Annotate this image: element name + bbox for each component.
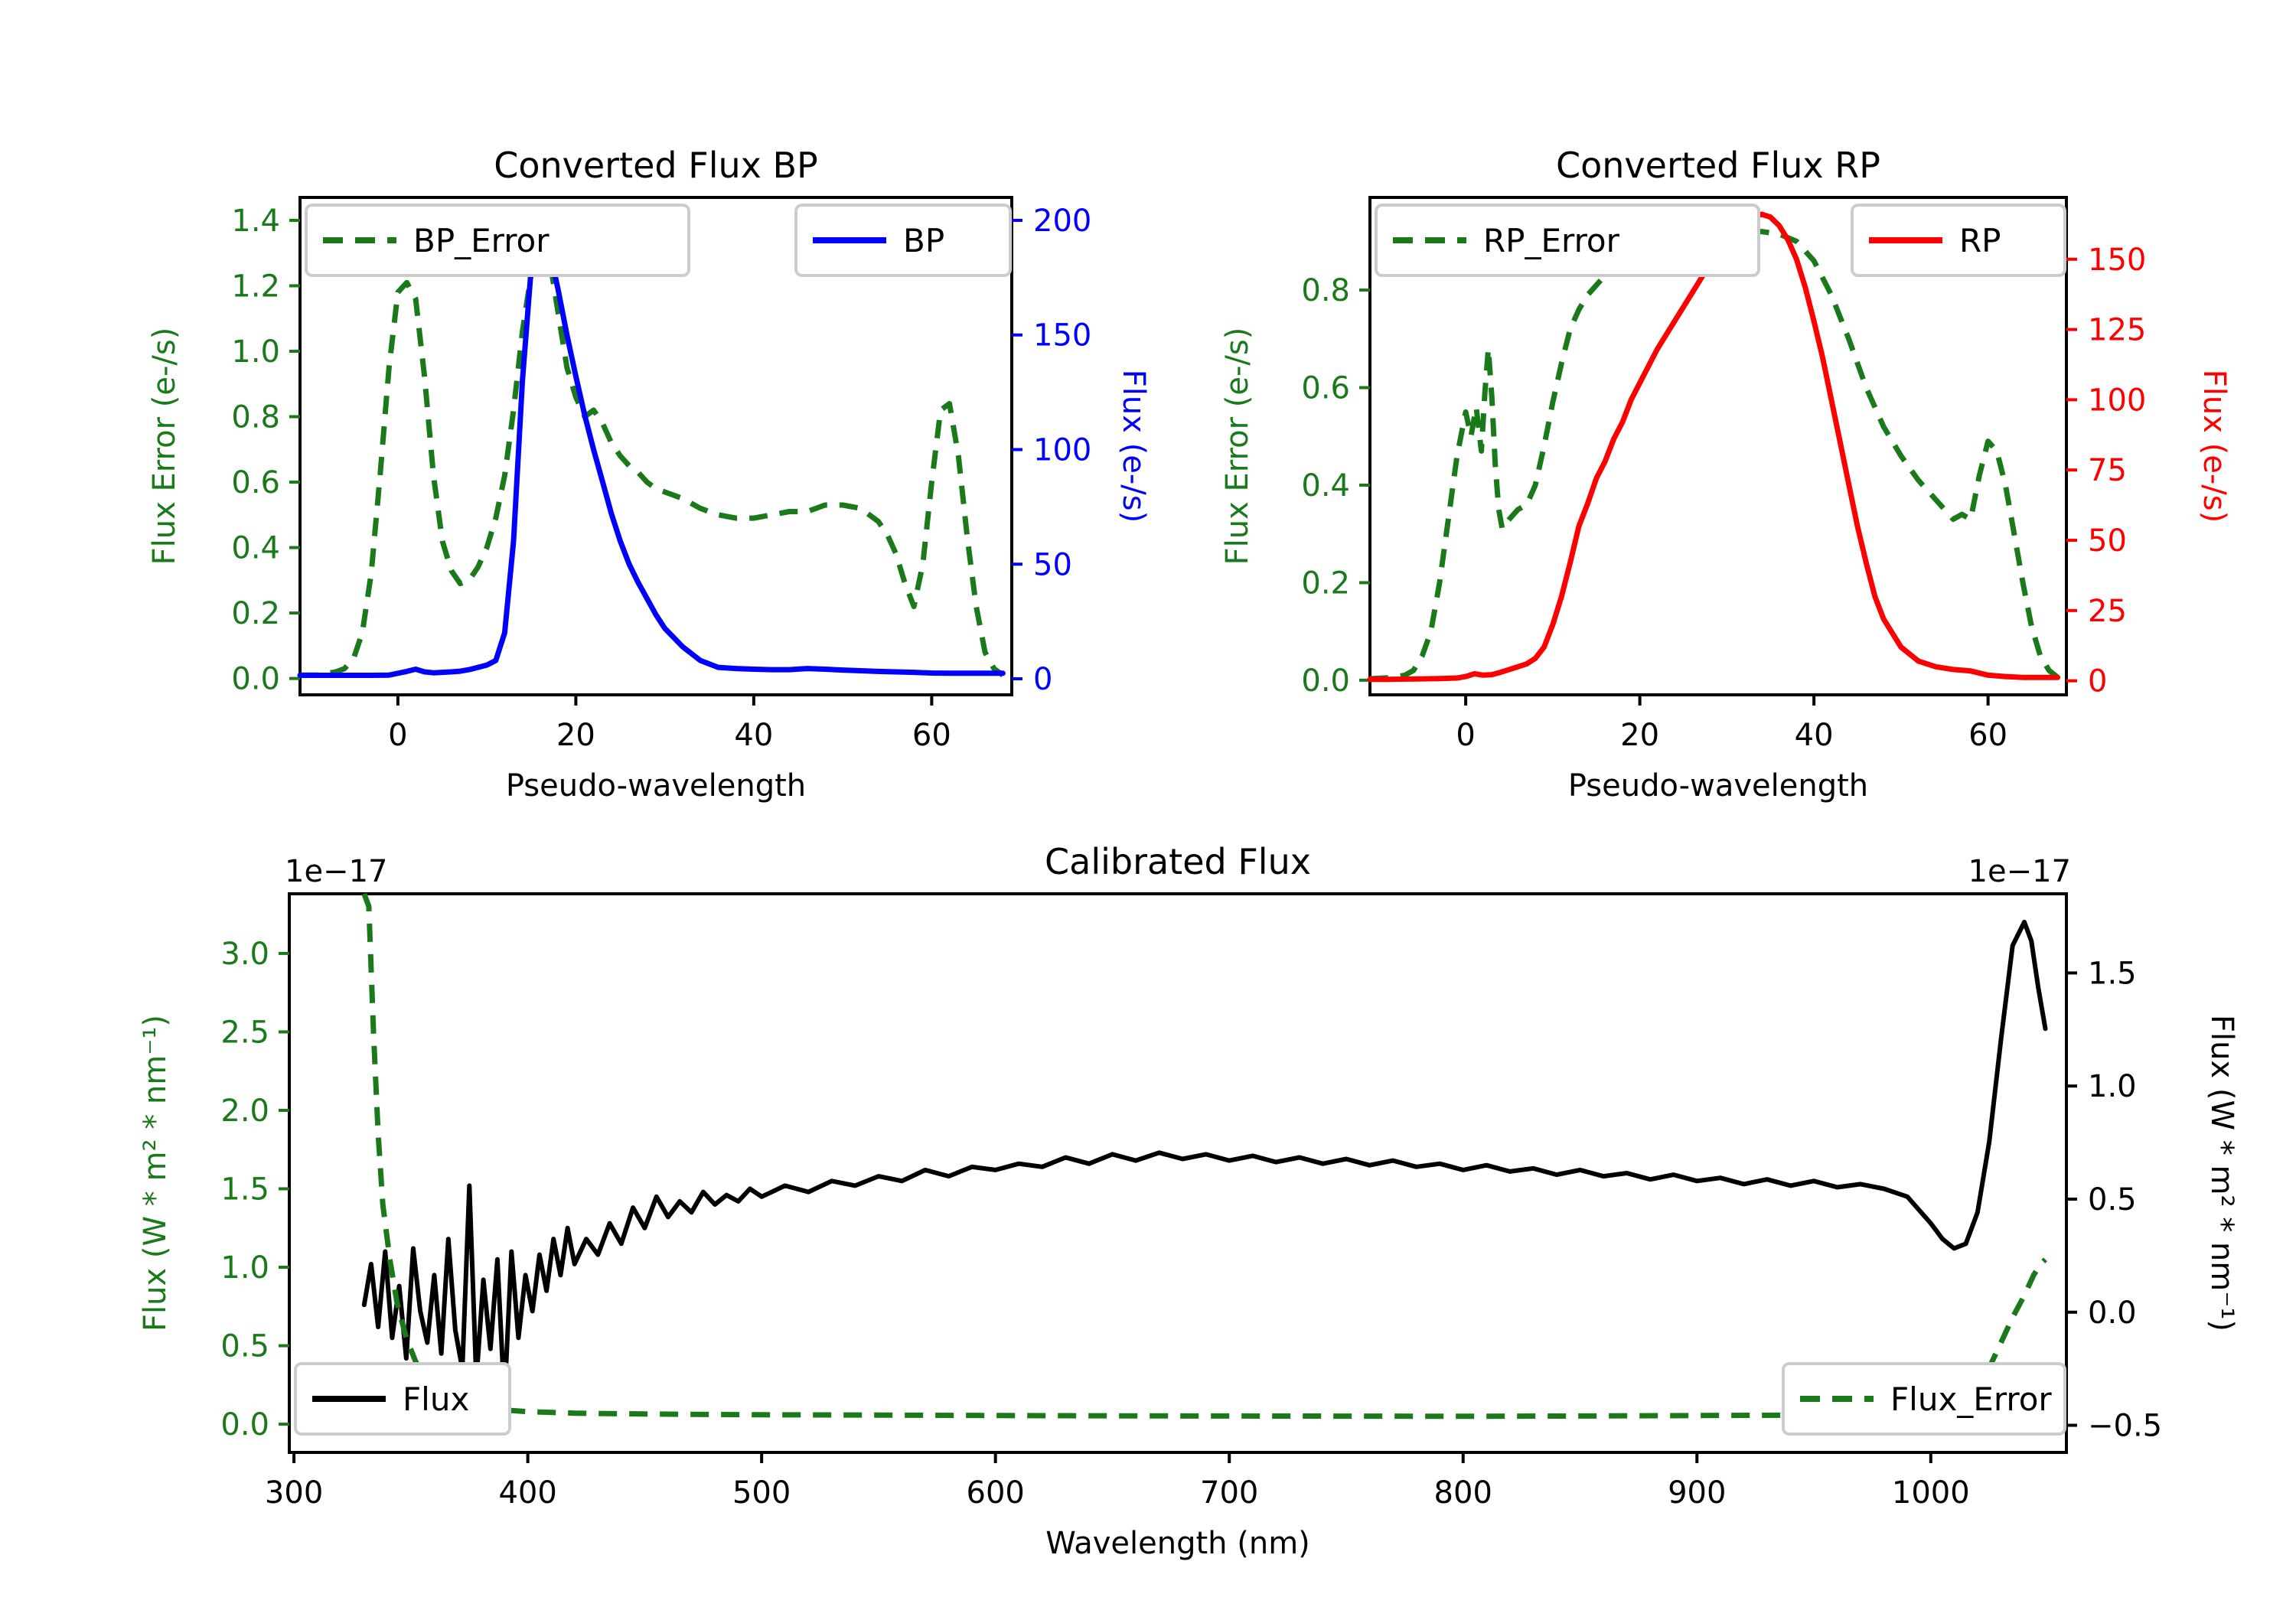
converted-flux-bp-yticklabel-left: 0.4 xyxy=(231,531,280,566)
calibrated-flux-xticklabel: 1000 xyxy=(1892,1475,1970,1511)
converted-flux-bp-ylabel-left: Flux Error (e-/s) xyxy=(147,328,182,566)
converted-flux-rp-yticklabel-right: 125 xyxy=(2088,313,2146,348)
converted-flux-rp-xticklabel: 40 xyxy=(1795,718,1834,753)
calibrated-flux-yticklabel-left: 3.0 xyxy=(220,937,269,972)
calibrated-flux-yticklabel-left: 2.0 xyxy=(220,1094,269,1129)
converted-flux-bp-legend-label-main: BP xyxy=(903,222,944,259)
converted-flux-rp-ylabel-left: Flux Error (e-/s) xyxy=(1220,328,1255,566)
figure-canvas: Converted Flux BP0204060Pseudo-wavelengt… xyxy=(0,0,2296,1607)
converted-flux-bp-yticklabel-left: 1.4 xyxy=(231,204,280,239)
converted-flux-rp-xticklabel: 60 xyxy=(1968,718,2007,753)
converted-flux-rp-yticklabel-right: 0 xyxy=(2088,664,2107,699)
converted-flux-bp-yticklabel-left: 0.0 xyxy=(231,662,280,697)
calibrated-flux-legend-label-main: Flux xyxy=(403,1380,469,1418)
converted-flux-bp-xticklabel: 20 xyxy=(556,718,595,753)
calibrated-flux-yticklabel-right: 1.0 xyxy=(2088,1069,2137,1104)
calibrated-flux-xticklabel: 800 xyxy=(1434,1475,1492,1511)
converted-flux-bp-ylabel-right: Flux (e-/s) xyxy=(1116,370,1151,523)
calibrated-flux-legend-label-error: Flux_Error xyxy=(1890,1380,2052,1418)
converted-flux-bp-yticklabel-right: 50 xyxy=(1033,547,1072,582)
converted-flux-rp-yticklabel-left: 0.6 xyxy=(1301,371,1350,406)
converted-flux-rp-yticklabel-right: 25 xyxy=(2088,594,2127,629)
calibrated-flux-offset-left: 1e−17 xyxy=(285,854,387,889)
converted-flux-bp-yticklabel-right: 0 xyxy=(1033,662,1052,697)
calibrated-flux-ylabel-right: Flux (W * m² * nm⁻¹) xyxy=(2204,1015,2239,1332)
converted-flux-rp-title: Converted Flux RP xyxy=(1556,145,1880,186)
calibrated-flux-xlabel: Wavelength (nm) xyxy=(1045,1526,1310,1561)
calibrated-flux-yticklabel-left: 0.0 xyxy=(220,1407,269,1442)
calibrated-flux-yticklabel-left: 1.0 xyxy=(220,1250,269,1286)
converted-flux-bp-yticklabel-left: 1.0 xyxy=(231,334,280,370)
converted-flux-bp-yticklabel-left: 1.2 xyxy=(231,269,280,304)
calibrated-flux-yticklabel-right: 0.0 xyxy=(2088,1296,2137,1331)
converted-flux-rp-yticklabel-left: 0.8 xyxy=(1301,273,1350,308)
converted-flux-bp-yticklabel-left: 0.2 xyxy=(231,596,280,631)
calibrated-flux-yticklabel-right: 1.5 xyxy=(2088,956,2137,991)
calibrated-flux-offset-right: 1e−17 xyxy=(1968,854,2071,889)
converted-flux-bp-yticklabel-left: 0.6 xyxy=(231,465,280,500)
calibrated-flux-yticklabel-right: −0.5 xyxy=(2088,1409,2162,1444)
calibrated-flux-ylabel-left: Flux (W * m² * nm⁻¹) xyxy=(138,1015,173,1332)
calibrated-flux-xticklabel: 700 xyxy=(1200,1475,1258,1511)
converted-flux-rp-yticklabel-left: 0.0 xyxy=(1301,663,1350,699)
converted-flux-rp-legend-label-main: RP xyxy=(1959,222,2001,259)
calibrated-flux-xticklabel: 600 xyxy=(967,1475,1025,1511)
converted-flux-rp-ylabel-right: Flux (e-/s) xyxy=(2197,370,2232,523)
converted-flux-rp-xticklabel: 20 xyxy=(1620,718,1659,753)
calibrated-flux-yticklabel-left: 0.5 xyxy=(220,1329,269,1364)
converted-flux-bp-legend-label-error: BP_Error xyxy=(413,222,550,259)
converted-flux-bp-xlabel: Pseudo-wavelength xyxy=(506,768,806,803)
converted-flux-rp-yticklabel-right: 50 xyxy=(2088,523,2127,559)
converted-flux-bp-xticklabel: 0 xyxy=(388,718,407,753)
converted-flux-bp-yticklabel-right: 100 xyxy=(1033,432,1091,468)
calibrated-flux-xticklabel: 300 xyxy=(265,1475,323,1511)
calibrated-flux-yticklabel-left: 2.5 xyxy=(220,1015,269,1050)
calibrated-flux-yticklabel-right: 0.5 xyxy=(2088,1182,2137,1217)
converted-flux-bp-xticklabel: 40 xyxy=(734,718,773,753)
calibrated-flux-xticklabel: 900 xyxy=(1668,1475,1726,1511)
converted-flux-rp-yticklabel-right: 100 xyxy=(2088,383,2146,418)
converted-flux-rp-yticklabel-left: 0.2 xyxy=(1301,566,1350,601)
converted-flux-rp-yticklabel-left: 0.4 xyxy=(1301,468,1350,504)
converted-flux-bp-yticklabel-right: 150 xyxy=(1033,318,1091,354)
calibrated-flux-yticklabel-left: 1.5 xyxy=(220,1172,269,1208)
converted-flux-rp-xticklabel: 0 xyxy=(1456,718,1475,753)
converted-flux-bp-title: Converted Flux BP xyxy=(494,145,818,186)
converted-flux-bp-yticklabel-right: 200 xyxy=(1033,204,1091,239)
calibrated-flux-title: Calibrated Flux xyxy=(1045,841,1311,882)
converted-flux-rp-legend-label-error: RP_Error xyxy=(1483,222,1620,259)
converted-flux-bp-yticklabel-left: 0.8 xyxy=(231,400,280,435)
converted-flux-rp-yticklabel-right: 150 xyxy=(2088,243,2146,278)
calibrated-flux-xticklabel: 400 xyxy=(498,1475,556,1511)
converted-flux-rp-yticklabel-right: 75 xyxy=(2088,453,2127,488)
calibrated-flux-xticklabel: 500 xyxy=(732,1475,791,1511)
matplotlib-figure: Converted Flux BP0204060Pseudo-wavelengt… xyxy=(0,0,2296,1607)
converted-flux-bp-xticklabel: 60 xyxy=(912,718,951,753)
converted-flux-rp-xlabel: Pseudo-wavelength xyxy=(1568,768,1868,803)
